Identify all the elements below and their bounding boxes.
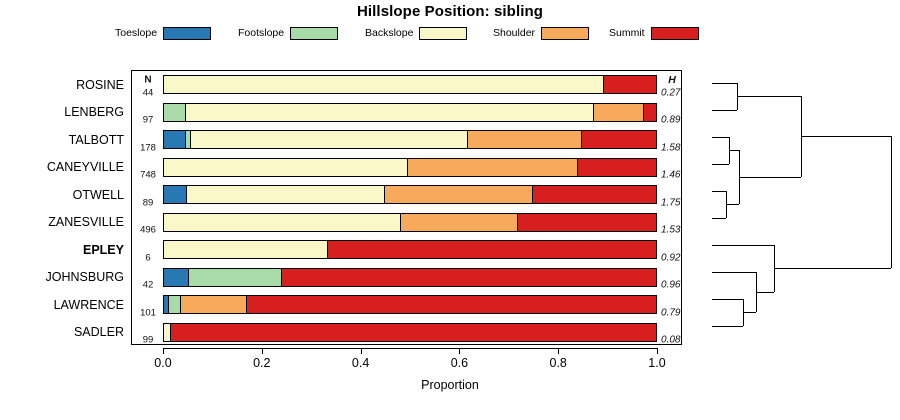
bar-segment-backslope: [187, 186, 385, 203]
bar-segment-summit: [644, 104, 656, 121]
legend-swatch-shoulder: [541, 27, 589, 40]
bar-segment-backslope: [164, 159, 408, 176]
bar-segment-backslope: [164, 241, 328, 258]
dendrogram-branch: [891, 136, 892, 268]
bar-segment-summit: [518, 214, 656, 231]
legend-item-footslope[interactable]: Footslope: [238, 25, 338, 41]
row-n-value: 101: [135, 307, 161, 318]
row-label-sadler: SADLER: [0, 325, 124, 339]
bar-segment-summit: [247, 296, 656, 313]
dendrogram-branch: [712, 326, 743, 327]
stacked-bar-johnsburg[interactable]: [163, 268, 657, 287]
bar-segment-shoulder: [594, 104, 643, 121]
bar-segment-backslope: [164, 214, 401, 231]
column-header-n: N: [135, 75, 161, 86]
row-n-value: 748: [135, 170, 161, 181]
x-axis-line: [163, 348, 657, 349]
bar-segment-shoulder: [468, 131, 583, 148]
legend-swatch-toeslope: [163, 27, 211, 40]
dendrogram-branch: [712, 191, 726, 192]
x-tick: [361, 348, 362, 354]
legend-swatch-footslope: [290, 27, 338, 40]
x-axis-label: Proportion: [0, 378, 900, 392]
row-label-talbott: TALBOTT: [0, 133, 124, 147]
legend-label: Backslope: [365, 27, 413, 39]
legend-label: Footslope: [238, 27, 284, 39]
dendrogram-branch: [726, 204, 739, 205]
legend-label: Shoulder: [493, 27, 535, 39]
bar-segment-summit: [533, 186, 656, 203]
dendrogram-branch: [774, 268, 891, 269]
dendrogram-branch: [712, 110, 737, 111]
legend-swatch-backslope: [419, 27, 467, 40]
legend-item-summit[interactable]: Summit: [609, 25, 699, 41]
legend-item-toeslope[interactable]: Toeslope: [115, 25, 211, 41]
bar-segment-backslope: [164, 324, 171, 341]
stacked-bar-otwell[interactable]: [163, 185, 657, 204]
row-label-caneyville: CANEYVILLE: [0, 160, 124, 174]
dendrogram-branch: [712, 245, 774, 246]
stacked-bar-lenberg[interactable]: [163, 103, 657, 122]
row-n-value: 178: [135, 142, 161, 153]
bar-segment-toeslope: [164, 131, 186, 148]
row-label-lawrence: LAWRENCE: [0, 298, 124, 312]
bar-segment-footslope: [164, 104, 186, 121]
chart-root: Hillslope Position: sibling ToeslopeFoot…: [0, 0, 900, 420]
bar-segment-summit: [171, 324, 656, 341]
dendrogram-branch: [712, 272, 756, 273]
x-tick: [558, 348, 559, 354]
bar-segment-shoulder: [401, 214, 518, 231]
x-tick: [163, 348, 164, 354]
dendrogram-branch: [729, 150, 739, 151]
bar-segment-backslope: [191, 131, 468, 148]
row-n-value: 6: [135, 252, 161, 263]
bar-segment-shoulder: [408, 159, 579, 176]
legend-swatch-summit: [651, 27, 699, 40]
stacked-bar-sadler[interactable]: [163, 323, 657, 342]
dendrogram: [686, 70, 900, 345]
x-tick-label: 1.0: [648, 356, 665, 370]
bar-segment-summit: [328, 241, 656, 258]
legend-item-backslope[interactable]: Backslope: [365, 25, 467, 41]
bar-segment-shoulder: [181, 296, 246, 313]
bar-segment-backslope: [186, 104, 594, 121]
row-n-value: 496: [135, 225, 161, 236]
legend-label: Summit: [609, 27, 645, 39]
legend-label: Toeslope: [115, 27, 157, 39]
row-label-zanesville: ZANESVILLE: [0, 215, 124, 229]
row-n-value: 99: [135, 335, 161, 346]
x-tick-label: 0.8: [549, 356, 566, 370]
stacked-bar-rosine[interactable]: [163, 75, 657, 94]
row-label-lenberg: LENBERG: [0, 105, 124, 119]
bar-segment-toeslope: [164, 269, 189, 286]
bar-segment-backslope: [164, 76, 604, 93]
dendrogram-branch: [756, 292, 774, 293]
x-tick-label: 0.2: [253, 356, 270, 370]
bar-segment-summit: [582, 131, 656, 148]
bar-segment-shoulder: [385, 186, 533, 203]
row-label-johnsburg: JOHNSBURG: [0, 270, 124, 284]
row-n-value: 97: [135, 115, 161, 126]
bar-segment-summit: [282, 269, 656, 286]
dendrogram-branch: [737, 96, 801, 97]
row-n-value: 44: [135, 87, 161, 98]
x-tick: [657, 348, 658, 354]
legend: ToeslopeFootslopeBackslopeShoulderSummit: [115, 25, 785, 43]
dendrogram-branch: [712, 299, 743, 300]
dendrogram-branch: [743, 312, 756, 313]
chart-title: Hillslope Position: sibling: [0, 3, 900, 20]
stacked-bar-talbott[interactable]: [163, 130, 657, 149]
dendrogram-branch: [712, 137, 729, 138]
bar-segment-toeslope: [164, 186, 187, 203]
dendrogram-branch: [712, 164, 729, 165]
column-header-h: H: [659, 74, 685, 86]
dendrogram-branch: [712, 83, 737, 84]
bar-segment-summit: [604, 76, 656, 93]
stacked-bar-epley[interactable]: [163, 240, 657, 259]
row-n-value: 42: [135, 280, 161, 291]
dendrogram-branch: [739, 177, 801, 178]
bar-segment-summit: [578, 159, 656, 176]
row-label-otwell: OTWELL: [0, 188, 124, 202]
x-tick: [459, 348, 460, 354]
legend-item-shoulder[interactable]: Shoulder: [493, 25, 589, 41]
stacked-bar-lawrence[interactable]: [163, 295, 657, 314]
row-label-rosine: ROSINE: [0, 78, 124, 92]
x-tick-label: 0.6: [451, 356, 468, 370]
dendrogram-branch: [712, 218, 726, 219]
stacked-bar-caneyville[interactable]: [163, 158, 657, 177]
stacked-bar-zanesville[interactable]: [163, 213, 657, 232]
row-label-epley: EPLEY: [0, 243, 124, 257]
x-tick: [262, 348, 263, 354]
x-tick-label: 0.0: [154, 356, 171, 370]
dendrogram-branch: [801, 136, 891, 137]
bar-segment-footslope: [169, 296, 181, 313]
x-tick-label: 0.4: [352, 356, 369, 370]
row-n-value: 89: [135, 197, 161, 208]
bar-segment-footslope: [189, 269, 282, 286]
